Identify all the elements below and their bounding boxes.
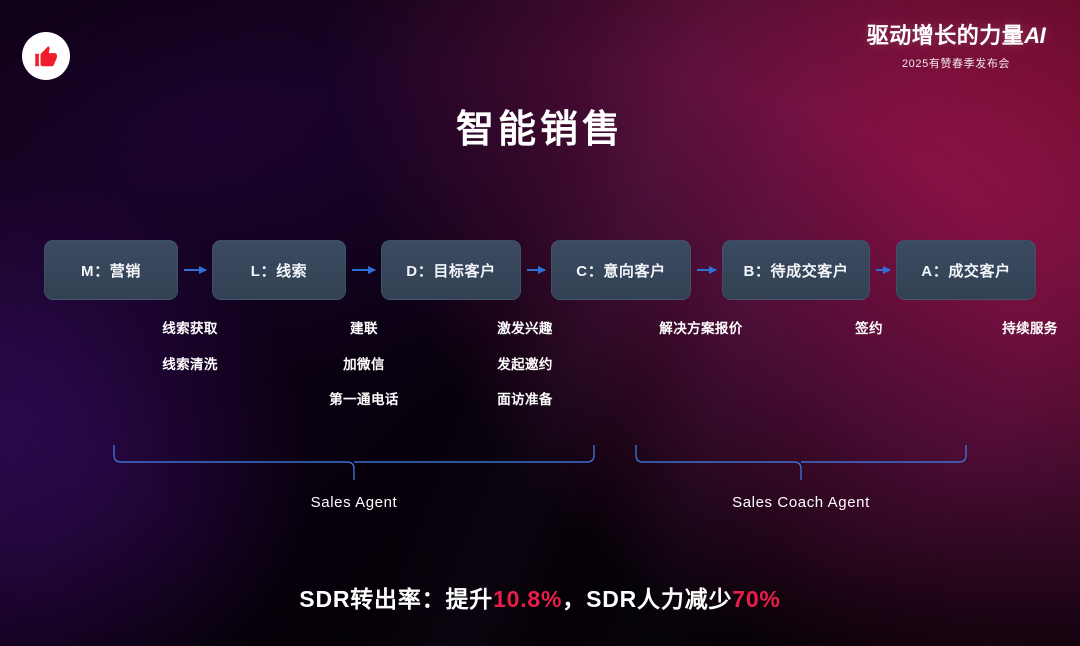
pipeline-stage-m[interactable]: M：营销 [44, 240, 178, 300]
pipeline-arrow-l [352, 269, 375, 271]
bracket-group: Sales Coach Agent [635, 444, 967, 484]
pipeline-stage-l[interactable]: L：线索 [212, 240, 346, 300]
task-column-4: 解决方案报价 [611, 322, 791, 336]
bracket-label: Sales Agent [113, 494, 595, 511]
task-item: 持续服务 [940, 322, 1080, 336]
pipeline-row: M：营销L：线索D：目标客户C：意向客户B：待成交客户A：成交客户 [44, 240, 1036, 300]
brand-logo-badge [22, 32, 70, 80]
footer-stat-prefix: SDR转出率：提升 [299, 586, 493, 612]
pipeline-arrow-d [527, 269, 545, 271]
pipeline-arrow-m [184, 269, 206, 271]
brand-subtitle: 2025有赞春季发布会 [856, 55, 1056, 71]
task-item: 第一通电话 [274, 393, 454, 407]
pipeline-arrow-b [876, 269, 890, 271]
task-item: 签约 [779, 322, 959, 336]
task-item: 线索清洗 [100, 358, 280, 372]
task-item: 激发兴趣 [435, 322, 615, 336]
pipeline-arrow-c [697, 269, 716, 271]
thumbs-up-icon [33, 43, 59, 69]
task-item: 线索获取 [100, 322, 280, 336]
task-item: 建联 [274, 322, 454, 336]
slide-canvas: 驱动增长的力量AI 2025有赞春季发布会 智能销售 M：营销L：线索D：目标客… [0, 0, 1080, 646]
task-item: 加微信 [274, 358, 454, 372]
bracket-shape [635, 444, 967, 484]
footer-stat: SDR转出率：提升10.8%，SDR人力减少70% [0, 580, 1080, 614]
task-column-5: 签约 [779, 322, 959, 336]
brand-title-ai: AI [1024, 23, 1045, 48]
bracket-shape [113, 444, 595, 484]
brand-header: 驱动增长的力量AI 2025有赞春季发布会 [856, 24, 1056, 71]
pipeline-stage-c[interactable]: C：意向客户 [551, 240, 691, 300]
brand-title-main: 驱动增长的力量 [867, 23, 1025, 48]
task-item: 面访准备 [435, 393, 615, 407]
bracket-label: Sales Coach Agent [635, 494, 967, 511]
task-column-6: 持续服务 [940, 322, 1080, 336]
task-column-2: 建联加微信第一通电话 [274, 322, 454, 407]
footer-stat-middle: ，SDR人力减少 [562, 586, 732, 612]
page-title: 智能销售 [0, 98, 1080, 153]
footer-stat-value-two: 70% [732, 586, 780, 612]
task-columns: 线索获取线索清洗建联加微信第一通电话激发兴趣发起邀约面访准备解决方案报价签约持续… [44, 322, 1036, 426]
task-item: 解决方案报价 [611, 322, 791, 336]
bracket-group: Sales Agent [113, 444, 595, 484]
footer-stat-value-one: 10.8% [493, 586, 562, 612]
task-column-1: 线索获取线索清洗 [100, 322, 280, 371]
task-column-3: 激发兴趣发起邀约面访准备 [435, 322, 615, 407]
brand-title: 驱动增长的力量AI [856, 24, 1056, 49]
pipeline-stage-b[interactable]: B：待成交客户 [722, 240, 870, 300]
bracket-group-row: Sales AgentSales Coach Agent [0, 444, 1080, 524]
pipeline-stage-a[interactable]: A：成交客户 [896, 240, 1036, 300]
task-item: 发起邀约 [435, 358, 615, 372]
pipeline-stage-d[interactable]: D：目标客户 [381, 240, 521, 300]
